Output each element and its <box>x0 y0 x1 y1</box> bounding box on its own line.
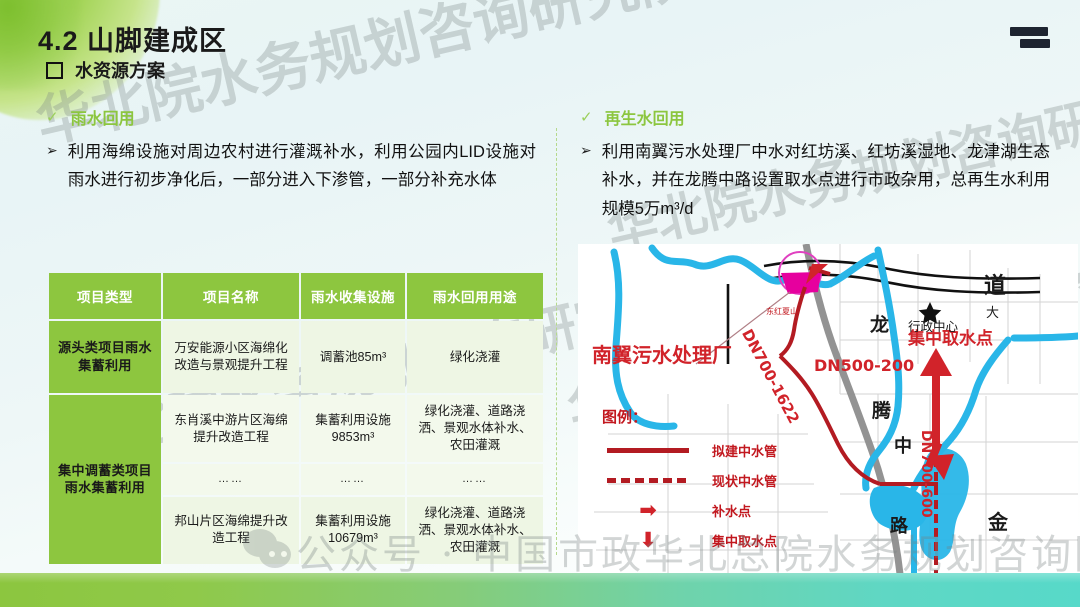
table-header-cell: 雨水回用用途 <box>407 273 543 319</box>
brand-logo-icon <box>1010 22 1056 52</box>
arrow-bullet-icon: ➢ <box>580 138 592 223</box>
table-row: 源头类项目雨水集蓄利用 万安能源小区海绵化改造与景观提升工程 调蓄池85m³ 绿… <box>49 321 543 393</box>
table-cell-facility: 调蓄池85m³ <box>301 321 405 393</box>
legend-item: 现状中水管 <box>602 465 777 495</box>
left-column-paragraph: 利用海绵设施对周边农村进行灌溉补水，利用公园内LID设施对雨水进行初步净化后，一… <box>68 138 536 195</box>
section-subtitle: 水资源方案 <box>46 57 165 83</box>
arrow-right-icon: ➡ <box>602 500 694 521</box>
right-column-heading: ✓ 再生水回用 <box>580 105 1050 129</box>
slide-canvas: 华北院水务规划咨询研究院 华北院水务规划咨询研究院 华北院水务规划咨询研究院 华… <box>0 0 1080 607</box>
table-cell-name: 东肖溪中游片区海绵提升改造工程 <box>163 395 299 462</box>
map-label-zhong: 中 <box>894 432 912 458</box>
right-column-bullet: ➢ 利用南翼污水处理厂中水对红坊溪、红坊溪湿地、龙津湖生态补水，并在龙腾中路设置… <box>580 138 1050 223</box>
left-column-bullet: ➢ 利用海绵设施对周边农村进行灌溉补水，利用公园内LID设施对雨水进行初步净化后… <box>46 138 536 195</box>
map-label-pipe-dn700-600: DN700-600 <box>918 430 934 518</box>
map-label-wwtp: 南翼污水处理厂 <box>592 339 732 368</box>
table-header-cell: 项目名称 <box>163 273 299 319</box>
solid-line-icon <box>602 448 694 453</box>
table-cell-use: 绿化浇灌、道路浇洒、景观水体补水、农田灌溉 <box>407 395 543 462</box>
right-column-paragraph: 利用南翼污水处理厂中水对红坊溪、红坊溪湿地、龙津湖生态补水，并在龙腾中路设置取水… <box>602 138 1050 223</box>
column-divider <box>556 128 557 555</box>
map-label-donghongxiashan: 东红夏山 <box>766 306 798 317</box>
map-label-da: 大 <box>986 302 999 321</box>
table-cell-name: …… <box>163 464 299 495</box>
left-column-heading-label: 雨水回用 <box>71 105 135 129</box>
check-icon: ✓ <box>580 110 593 125</box>
legend-item-label: 补水点 <box>712 501 751 520</box>
check-icon: ✓ <box>46 110 59 125</box>
table-header-cell: 雨水收集设施 <box>301 273 405 319</box>
table-cell-category: 集中调蓄类项目雨水集蓄利用 <box>49 395 161 564</box>
table-cell-facility: 集蓄利用设施9853m³ <box>301 395 405 462</box>
right-column: ✓ 再生水回用 ➢ 利用南翼污水处理厂中水对红坊溪、红坊溪湿地、龙津湖生态补水，… <box>580 105 1050 223</box>
watermark-bottom: 公众号 · 中国市政华北总院水务规划咨询院 <box>296 522 1080 580</box>
map-label-teng: 腾 <box>872 396 891 423</box>
table-cell-name: 万安能源小区海绵化改造与景观提升工程 <box>163 321 299 393</box>
left-column: ✓ 雨水回用 ➢ 利用海绵设施对周边农村进行灌溉补水，利用公园内LID设施对雨水… <box>46 105 536 195</box>
legend-item-label: 现状中水管 <box>712 471 777 490</box>
table-header-row: 项目类型 项目名称 雨水收集设施 雨水回用用途 <box>49 273 543 319</box>
left-column-heading: ✓ 雨水回用 <box>46 105 536 129</box>
page-title: 4.2 山脚建成区 <box>38 19 227 58</box>
dashed-line-icon <box>602 478 694 483</box>
map-label-pipe-dn500-200: DN500-200 <box>814 356 914 375</box>
table-cell-facility: …… <box>301 464 405 495</box>
table-header-cell: 项目类型 <box>49 273 161 319</box>
wechat-logo-icon <box>243 527 295 571</box>
footer-bar <box>0 573 1080 607</box>
map-label-dao: 道 <box>984 268 1006 300</box>
legend-item: ➡ 补水点 <box>602 495 777 525</box>
section-subtitle-label: 水资源方案 <box>75 57 165 83</box>
map-label-long: 龙 <box>870 310 889 337</box>
table-cell-category: 源头类项目雨水集蓄利用 <box>49 321 161 393</box>
legend-item: 拟建中水管 <box>602 435 777 465</box>
table-row: 集中调蓄类项目雨水集蓄利用 东肖溪中游片区海绵提升改造工程 集蓄利用设施9853… <box>49 395 543 462</box>
right-column-heading-label: 再生水回用 <box>605 105 685 129</box>
arrow-bullet-icon: ➢ <box>46 138 58 195</box>
table-cell-use: …… <box>407 464 543 495</box>
square-bullet-icon <box>46 62 63 79</box>
table-cell-use: 绿化浇灌 <box>407 321 543 393</box>
legend-item-label: 拟建中水管 <box>712 441 777 460</box>
legend-title: 图例： <box>602 406 777 427</box>
map-label-admin-center-text: 行政中心 <box>908 316 958 335</box>
